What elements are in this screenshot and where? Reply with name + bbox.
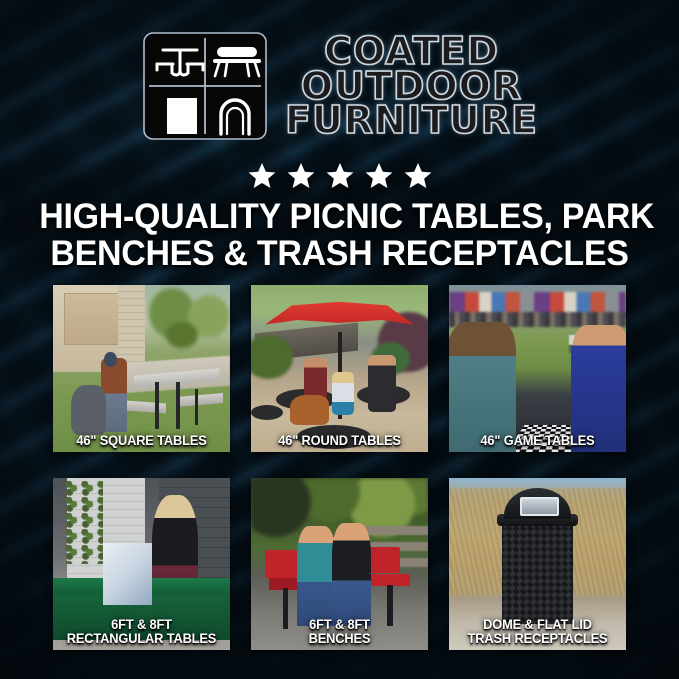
caption-line-1: 6FT & 8FT xyxy=(59,618,223,632)
caption-line-2: RECTANGULAR TABLES xyxy=(59,632,223,646)
product-caption: 46" GAME TABLES xyxy=(451,434,624,448)
product-photo-square-tables xyxy=(53,285,230,452)
star-icon xyxy=(403,161,433,191)
product-photo-game-tables xyxy=(449,285,626,452)
product-caption: 6FT & 8FT RECTANGULAR TABLES xyxy=(55,618,228,646)
star-icon xyxy=(286,161,316,191)
infographic-banner: COATED OUTDOOR FURNITURE HIGH-QUALITY PI… xyxy=(0,0,679,679)
product-tile-round-tables[interactable]: 46" ROUND TABLES xyxy=(251,285,428,452)
product-caption: 6FT & 8FT BENCHES xyxy=(253,618,426,646)
page-title: HIGH-QUALITY PICNIC TABLES, PARK BENCHES… xyxy=(30,198,649,272)
brand-wordmark: COATED OUTDOOR FURNITURE xyxy=(285,34,538,139)
caption-line-2: BENCHES xyxy=(257,632,421,646)
product-photo-round-tables xyxy=(251,285,428,452)
caption-line-1: 6FT & 8FT xyxy=(257,618,421,632)
headline-line-2: BENCHES & TRASH RECEPTACLES xyxy=(39,235,639,272)
product-tile-square-tables[interactable]: 46" SQUARE TABLES xyxy=(53,285,230,452)
coated-outdoor-furniture-logo-icon xyxy=(141,30,269,142)
caption-line-2: TRASH RECEPTACLES xyxy=(455,632,619,646)
star-icon xyxy=(247,161,277,191)
wordmark-line-3: FURNITURE xyxy=(285,103,538,138)
product-caption: 46" ROUND TABLES xyxy=(253,434,426,448)
product-grid: 46" SQUARE TABLES xyxy=(53,285,626,650)
product-caption: 46" SQUARE TABLES xyxy=(55,434,228,448)
product-tile-trash-receptacles[interactable]: DOME & FLAT LID TRASH RECEPTACLES xyxy=(449,478,626,650)
product-caption: DOME & FLAT LID TRASH RECEPTACLES xyxy=(451,618,624,646)
product-tile-game-tables[interactable]: 46" GAME TABLES xyxy=(449,285,626,452)
caption-line-1: 46" GAME TABLES xyxy=(455,434,619,448)
product-tile-benches[interactable]: 6FT & 8FT BENCHES xyxy=(251,478,428,650)
brand-logo: COATED OUTDOOR FURNITURE xyxy=(0,26,679,146)
headline-line-1: HIGH-QUALITY PICNIC TABLES, PARK xyxy=(39,198,639,235)
star-rating xyxy=(0,156,679,196)
star-icon xyxy=(325,161,355,191)
product-tile-rectangular-tables[interactable]: 6FT & 8FT RECTANGULAR TABLES xyxy=(53,478,230,650)
caption-line-1: DOME & FLAT LID xyxy=(455,618,619,632)
trash-receptacle-icon xyxy=(502,518,573,625)
star-icon xyxy=(364,161,394,191)
caption-line-1: 46" SQUARE TABLES xyxy=(59,434,223,448)
caption-line-1: 46" ROUND TABLES xyxy=(257,434,421,448)
